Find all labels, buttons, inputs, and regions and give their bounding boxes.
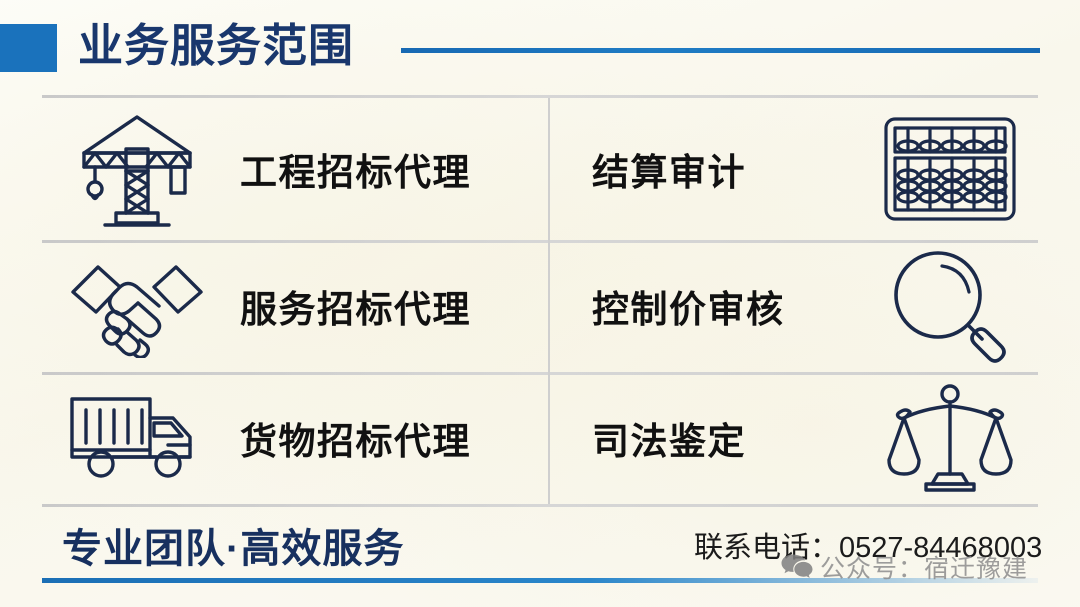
truck-icon [42,393,232,483]
watermark: 公众号：宿迁豫建 [781,549,1028,585]
service-item-settlement-audit[interactable]: 结算审计 [550,98,1038,240]
slide-root: 业务服务范围 [0,0,1080,607]
handshake-icon [42,254,232,358]
watermark-text: 公众号：宿迁豫建 [820,549,1028,585]
service-item-goods-tender[interactable]: 货物招标代理 [42,372,548,504]
grid-line-bottom [42,504,1038,507]
service-label: 货物招标代理 [240,411,471,465]
abacus-icon [862,115,1037,223]
service-item-engineering-tender[interactable]: 工程招标代理 [42,98,548,240]
service-item-price-control-review[interactable]: 控制价审核 [550,240,1038,372]
wechat-icon [781,554,813,580]
services-grid: 工程招标代理 结算审计 [42,95,1038,507]
footer-tagline: 专业团队·高效服务 [62,516,404,574]
service-label: 工程招标代理 [240,142,471,196]
service-label: 司法鉴定 [592,411,862,465]
service-label: 服务招标代理 [240,279,471,333]
scales-icon [862,382,1037,494]
page-title: 业务服务范围 [78,17,354,75]
service-label: 控制价审核 [592,279,862,333]
crane-icon [42,109,232,229]
service-label: 结算审计 [592,142,862,196]
service-item-judicial-appraisal[interactable]: 司法鉴定 [550,372,1038,504]
service-item-service-tender[interactable]: 服务招标代理 [42,240,548,372]
header-divider-rule [401,48,1040,53]
header-accent-swatch [0,24,57,72]
magnifier-icon [862,247,1037,365]
